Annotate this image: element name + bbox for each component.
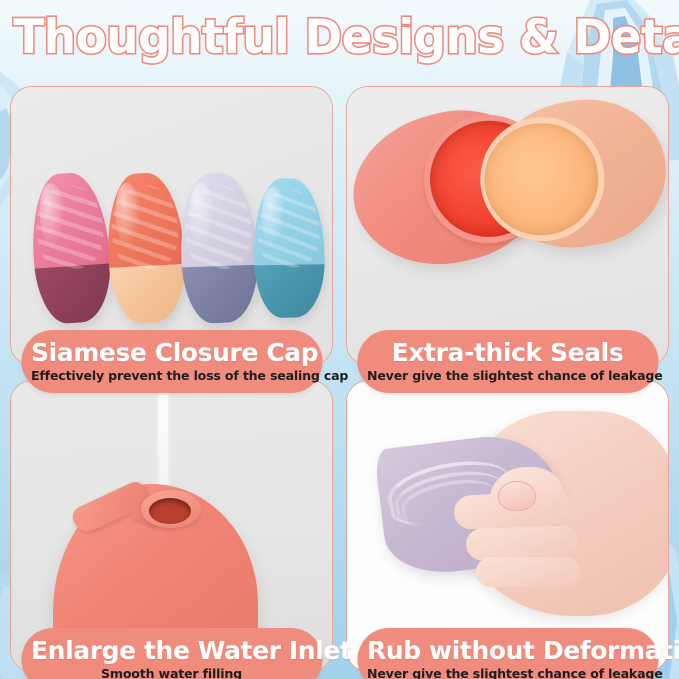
page-title: Thoughtful Designs & Details — [13, 8, 679, 68]
title-container: Thoughtful Designs & Details — [0, 8, 679, 68]
thumbnail — [498, 481, 536, 511]
caption-subtitle: Effectively prevent the loss of the seal… — [31, 368, 312, 384]
panel-extra-thick-seals[interactable]: Extra-thick Seals Never give the slighte… — [346, 86, 669, 366]
caption-extra-thick-seals: Extra-thick Seals Never give the slighte… — [357, 330, 658, 393]
caption-title: Rub without Deformation — [367, 637, 648, 665]
caption-enlarge-the-water-inlet: Enlarge the Water Inlet Smooth water fil… — [21, 628, 322, 679]
lavender-bottle — [178, 172, 259, 325]
caption-rub-without-deformation: Rub without Deformation Never give the s… — [357, 628, 658, 679]
panel-rub-without-deformation[interactable]: Rub without Deformation Never give the s… — [346, 380, 669, 672]
promo-image-root: Thoughtful Designs & Details — [0, 0, 679, 679]
caption-subtitle: Never give the slightest chance of leaka… — [367, 368, 648, 384]
panel-2-image — [347, 87, 668, 365]
caption-siamese-closure-cap: Siamese Closure Cap Effectively prevent … — [21, 330, 322, 393]
caption-title: Enlarge the Water Inlet — [31, 637, 312, 665]
coral-bottle — [104, 171, 188, 325]
caption-title: Siamese Closure Cap — [31, 339, 312, 367]
caption-subtitle: Smooth water filling — [31, 666, 312, 679]
finger — [465, 525, 578, 561]
feature-panel-grid: Siamese Closure Cap Effectively prevent … — [10, 86, 669, 672]
caption-title: Extra-thick Seals — [367, 339, 648, 367]
finger — [476, 557, 580, 587]
caption-subtitle: Never give the slightest chance of leaka… — [367, 666, 648, 679]
blue-bottle — [252, 178, 325, 319]
pink-bottle — [28, 171, 114, 326]
panel-enlarge-the-water-inlet[interactable]: Enlarge the Water Inlet Smooth water fil… — [10, 380, 333, 672]
panel-1-image — [11, 87, 332, 365]
panel-siamese-closure-cap[interactable]: Siamese Closure Cap Effectively prevent … — [10, 86, 333, 366]
water-inlet-opening — [149, 498, 191, 524]
